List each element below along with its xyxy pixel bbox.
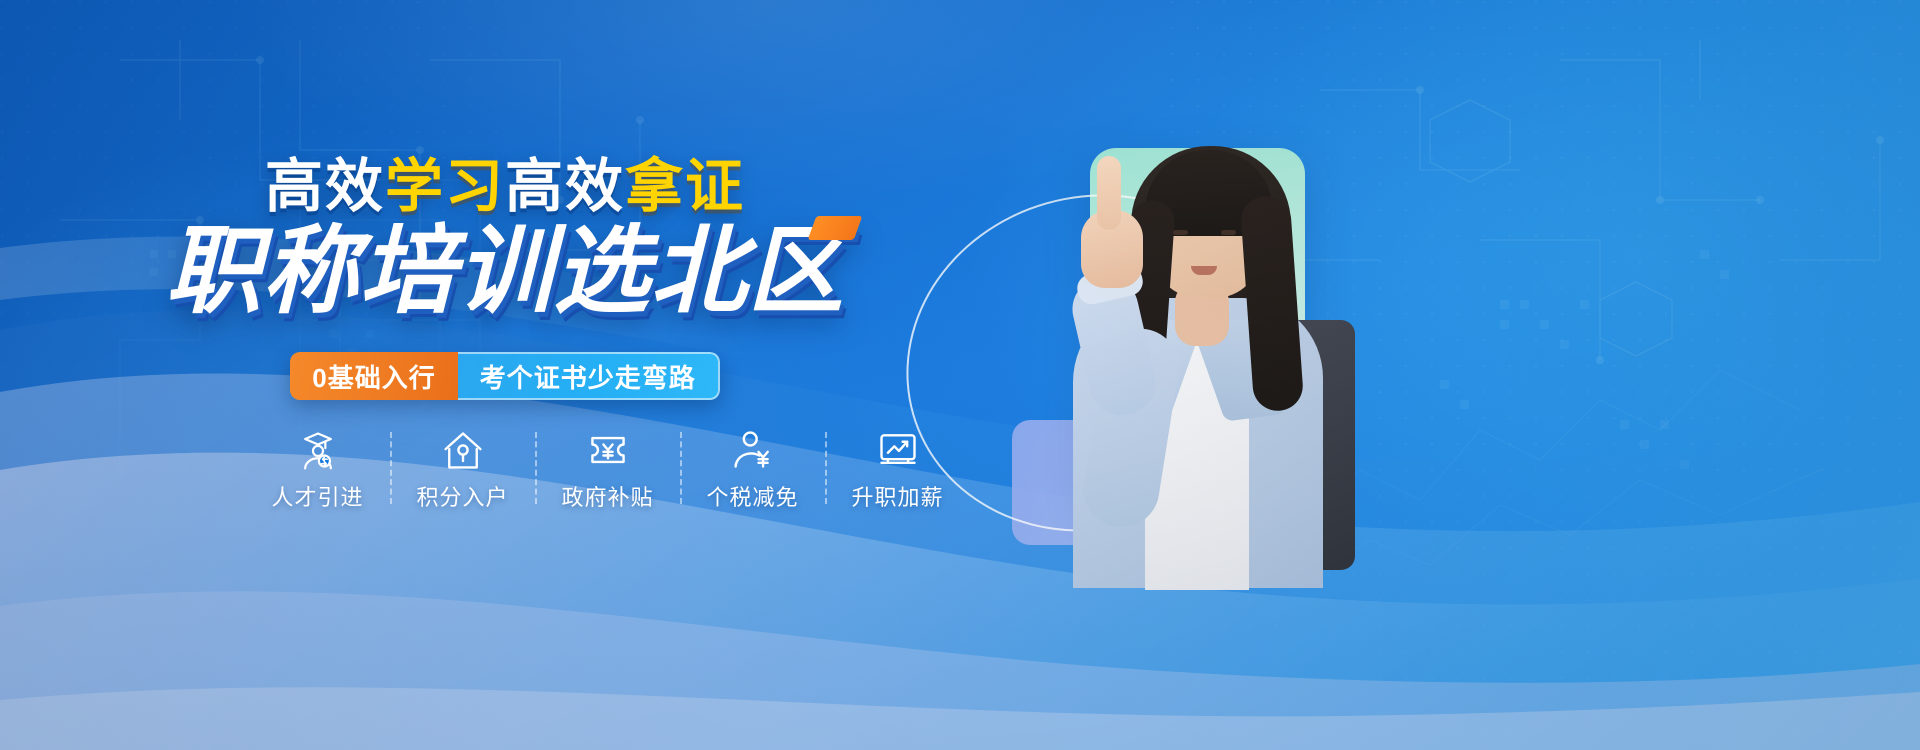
feature-item-talent-introduction[interactable]: 人才引进: [245, 428, 390, 512]
headline-part-1: 高效: [265, 154, 385, 219]
feature-item-government-subsidy[interactable]: 政府补贴: [535, 428, 680, 512]
headline-part-3: 高效: [505, 154, 625, 219]
feature-item-promotion-raise[interactable]: 升职加薪: [825, 428, 970, 512]
badge-right-label: 考个证书少走弯路: [458, 352, 720, 400]
feature-item-points-residency[interactable]: 积分入户: [390, 428, 535, 512]
headline-part-4-highlight: 拿证: [625, 154, 745, 219]
headline-part-2-highlight: 学习: [385, 154, 505, 219]
headline: 高效学习高效拿证: [0, 158, 1010, 216]
eye-left: [1173, 230, 1188, 235]
tagline-badge-inner: 0基础入行 考个证书少走弯路: [290, 352, 719, 400]
presenter-photo: [985, 70, 1405, 580]
feature-item-tax-reduction[interactable]: 个税减免: [680, 428, 825, 512]
feature-label: 政府补贴: [561, 480, 653, 512]
pointing-finger: [1097, 156, 1121, 230]
eye-right: [1221, 230, 1236, 235]
ticket-yuan-icon: [586, 428, 630, 472]
feature-list: 人才引进 积分入户: [245, 428, 970, 520]
house-pin-icon: [441, 428, 485, 472]
growth-chart-icon: [876, 428, 920, 472]
feature-label: 人才引进: [271, 480, 363, 512]
banner-content: 高效学习高效拿证 职称培训选北区 0基础入行 考个证书少走弯路: [0, 0, 1010, 750]
tagline-badge: 0基础入行 考个证书少走弯路: [0, 352, 1010, 400]
feature-label: 个税减免: [706, 480, 798, 512]
main-title-text: 职称培训选北区: [166, 218, 845, 325]
main-title-wrap: 职称培训选北区: [0, 222, 1010, 323]
accent-mark-icon: [807, 216, 862, 240]
badge-left-label: 0基础入行: [290, 352, 457, 400]
graduate-person-icon: [296, 428, 340, 472]
main-title: 职称培训选北区: [166, 222, 845, 323]
person-yuan-icon: [731, 428, 775, 472]
feature-label: 积分入户: [416, 480, 508, 512]
feature-label: 升职加薪: [851, 480, 943, 512]
promo-banner: 高效学习高效拿证 职称培训选北区 0基础入行 考个证书少走弯路: [0, 0, 1920, 750]
